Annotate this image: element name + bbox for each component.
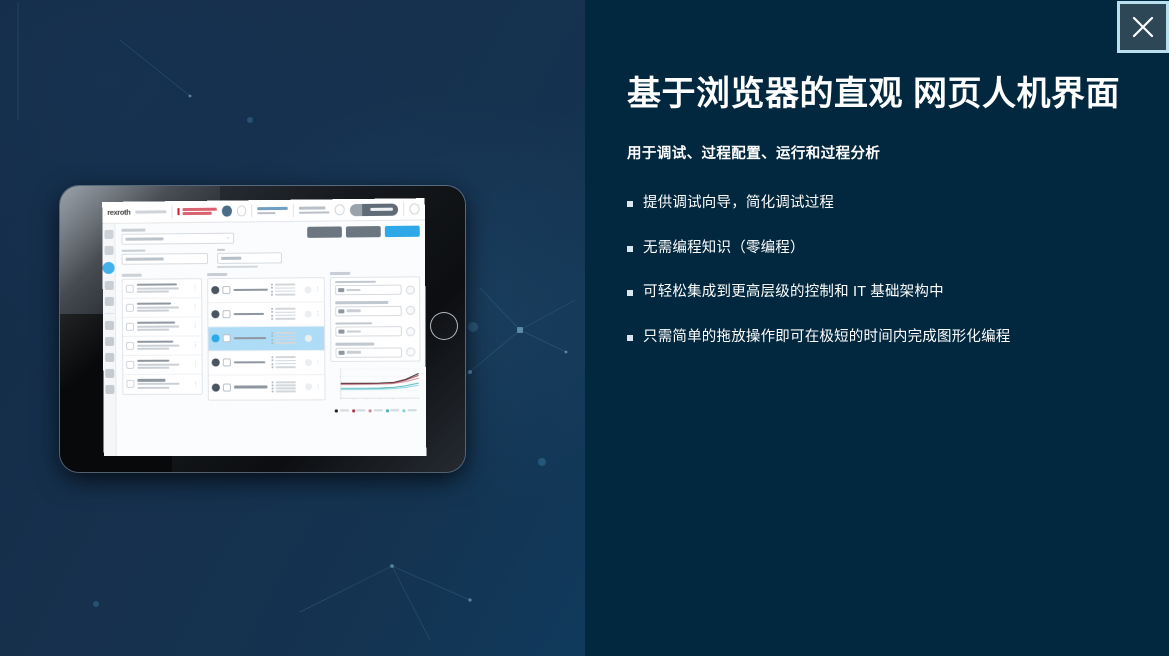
status-ok-icon[interactable] (222, 205, 232, 216)
page-title: 基于浏览器的直观 网页人机界面 (627, 74, 1137, 115)
bullet-marker-icon (627, 201, 633, 207)
program-select[interactable]: ⌄ (121, 232, 234, 244)
form-field-action-icon[interactable] (406, 347, 415, 356)
file-icon[interactable] (104, 246, 113, 255)
form-field-label (335, 301, 388, 304)
sequence-icon[interactable] (103, 262, 115, 274)
feature-bullet: 可轻松集成到更高层级的控制和 IT 基础架构中 (627, 283, 1147, 303)
table-row[interactable]: ⋮ (208, 302, 324, 327)
list-item[interactable]: ⋮ (123, 298, 201, 318)
sequence-list: ⋮ ⋮ (207, 277, 325, 401)
status-more-icon[interactable] (237, 205, 247, 216)
feature-bullet-label: 无需编程知识（零编程） (643, 239, 805, 259)
row-action-icon[interactable] (305, 359, 312, 366)
globe-icon[interactable] (105, 353, 114, 362)
step-type-icon (223, 334, 231, 342)
feature-bullet-label: 可轻松集成到更高层级的控制和 IT 基础架构中 (643, 283, 944, 303)
table-row[interactable]: ⋮ (209, 375, 325, 400)
program-select-group: ⌄ (121, 228, 234, 245)
form-field-action-icon[interactable] (406, 306, 415, 315)
form-field (331, 277, 419, 298)
rexroth-logo: rexroth (107, 208, 130, 217)
id-field-group (217, 248, 282, 268)
library-column-header (122, 274, 142, 277)
rail-divider (104, 313, 113, 314)
hmi-screen: rexroth (102, 198, 426, 456)
legend-label (357, 409, 366, 411)
program-label (299, 206, 330, 213)
table-row[interactable]: ⋮ (209, 350, 325, 375)
item-icon (126, 284, 134, 292)
row-action-icon[interactable] (305, 383, 312, 390)
properties-form (330, 276, 421, 362)
id-field[interactable] (217, 252, 282, 264)
row-menu-icon[interactable]: ⋮ (315, 310, 321, 317)
form-input[interactable] (335, 347, 402, 357)
list-item[interactable]: ⋮ (123, 355, 201, 374)
legend-swatch-icon (403, 409, 406, 412)
name-field[interactable] (122, 253, 209, 265)
chart-legend (334, 409, 418, 412)
connection-label (258, 207, 288, 214)
secondary-button-a[interactable] (307, 226, 342, 237)
brand-subtitle (135, 210, 166, 213)
hmi-main-content: ⌄ (115, 220, 426, 456)
program-menu-icon[interactable] (335, 204, 345, 215)
chart-legend-item[interactable] (386, 409, 400, 412)
list-item[interactable]: ⋮ (123, 336, 201, 355)
chart-series (341, 373, 419, 383)
legend-label (340, 410, 349, 412)
alarm-message (178, 208, 217, 215)
feature-bullet-label: 只需简单的拖放操作即可在极短的时间内完成图形化编程 (643, 328, 1011, 348)
library-column: ⋮ ⋮ (122, 273, 203, 412)
item-icon (126, 341, 134, 349)
right-content-panel: 基于浏览器的直观 网页人机界面 用于调试、过程配置、运行和过程分析 提供调试向导… (585, 0, 1169, 656)
id-field-hint (217, 266, 257, 268)
tune-icon[interactable] (104, 297, 113, 306)
action-buttons (307, 226, 420, 238)
form-field-label (335, 322, 372, 325)
row-menu-icon[interactable]: ⋮ (315, 286, 321, 293)
primary-button[interactable] (385, 226, 420, 238)
step-type-icon (222, 310, 230, 318)
library-icon[interactable] (105, 369, 114, 378)
chart-legend-item[interactable] (352, 409, 366, 412)
step-node-icon (211, 286, 219, 294)
item-icon (126, 380, 134, 388)
form-input[interactable] (335, 326, 402, 337)
step-type-icon (223, 383, 231, 391)
divider (403, 202, 404, 215)
tablet-device: rexroth (60, 186, 468, 474)
feature-bullet: 只需简单的拖放操作即可在极短的时间内完成图形化编程 (627, 328, 1147, 348)
run-toggle[interactable] (350, 203, 399, 216)
chevron-down-icon: ⌄ (226, 235, 230, 241)
row-menu-icon[interactable]: ⋮ (315, 358, 321, 365)
chart-legend-item[interactable] (335, 409, 349, 412)
list-item[interactable]: ⋮ (123, 374, 201, 393)
chart-plot-area (334, 366, 420, 403)
form-field (331, 298, 419, 319)
step-node-icon (211, 310, 219, 318)
feature-bullet-list: 提供调试向导，简化调试过程无需编程知识（零编程）可轻松集成到更高层级的控制和 I… (627, 194, 1147, 372)
row-action-icon[interactable] (305, 334, 312, 341)
bullet-marker-icon (627, 290, 633, 296)
left-visual-panel: rexroth (0, 0, 585, 656)
overlay-root: rexroth (0, 0, 1169, 656)
item-menu-icon[interactable]: ⋮ (193, 361, 199, 368)
form-field-action-icon[interactable] (406, 285, 415, 294)
step-node-icon (212, 358, 220, 366)
chart-legend-item[interactable] (369, 409, 383, 412)
feature-bullet: 提供调试向导，简化调试过程 (627, 194, 1147, 214)
form-field (331, 339, 419, 360)
wrench-icon[interactable] (105, 385, 114, 394)
name-field-group (122, 248, 209, 268)
sequence-column-header (207, 273, 227, 276)
table-row[interactable]: ⋮ (208, 278, 324, 303)
legend-swatch-icon (335, 409, 338, 412)
legend-label (373, 409, 382, 411)
feature-bullet-label: 提供调试向导，简化调试过程 (643, 194, 834, 214)
bullet-marker-icon (627, 335, 633, 341)
divider (172, 205, 173, 218)
step-node-icon (212, 334, 220, 342)
legend-swatch-icon (369, 409, 372, 412)
library-list: ⋮ ⋮ (122, 278, 203, 395)
form-field (331, 318, 419, 339)
history-icon[interactable] (104, 321, 113, 330)
properties-column-header (330, 272, 350, 275)
item-icon (126, 322, 134, 330)
item-menu-icon[interactable]: ⋮ (192, 284, 198, 291)
form-field-label (335, 343, 374, 346)
home-icon[interactable] (104, 230, 113, 239)
step-node-icon (212, 383, 220, 391)
divider (252, 204, 253, 217)
hmi-body: ⌄ (102, 220, 426, 456)
settings-gear-icon[interactable] (410, 203, 420, 214)
form-field-label (335, 280, 376, 283)
item-menu-icon[interactable]: ⋮ (192, 303, 198, 310)
item-menu-icon[interactable]: ⋮ (192, 341, 198, 348)
close-icon (1132, 16, 1154, 38)
list-item[interactable]: ⋮ (123, 317, 201, 337)
close-button[interactable] (1117, 1, 1169, 53)
legend-swatch-icon (352, 409, 355, 412)
row-menu-icon[interactable]: ⋮ (315, 383, 321, 390)
feature-bullet: 无需编程知识（零编程） (627, 239, 1147, 259)
form-input[interactable] (335, 305, 402, 316)
list-item[interactable]: ⋮ (123, 279, 201, 299)
name-field-label (122, 249, 146, 252)
info-icon[interactable] (105, 337, 114, 346)
bullet-marker-icon (627, 246, 633, 252)
properties-column (330, 271, 421, 412)
table-row-selected[interactable]: ⋮ (208, 326, 324, 351)
legend-swatch-icon (386, 409, 389, 412)
chart-legend-item[interactable] (403, 409, 417, 412)
item-icon (126, 303, 134, 311)
row-menu-icon[interactable]: ⋮ (315, 334, 321, 341)
process-chart (330, 364, 420, 412)
legend-label (407, 409, 416, 411)
divider (293, 204, 294, 217)
secondary-button-b[interactable] (346, 226, 381, 237)
home-button[interactable] (430, 312, 458, 340)
sequence-column: ⋮ ⋮ (207, 272, 326, 412)
step-type-icon (222, 286, 230, 294)
item-menu-icon[interactable]: ⋮ (192, 322, 198, 329)
form-input[interactable] (335, 285, 402, 296)
step-type-icon (223, 358, 231, 366)
form-field-action-icon[interactable] (406, 327, 415, 336)
chart-icon[interactable] (104, 281, 113, 290)
program-select-label (121, 229, 145, 232)
tablet-bezel: rexroth (60, 186, 465, 472)
page-subtitle: 用于调试、过程配置、运行和过程分析 (627, 142, 1127, 163)
row-action-icon[interactable] (305, 310, 312, 317)
item-menu-icon[interactable]: ⋮ (193, 380, 199, 387)
legend-label (390, 409, 399, 411)
item-icon (126, 360, 134, 368)
row-action-icon[interactable] (304, 286, 311, 293)
id-field-label (217, 248, 225, 251)
